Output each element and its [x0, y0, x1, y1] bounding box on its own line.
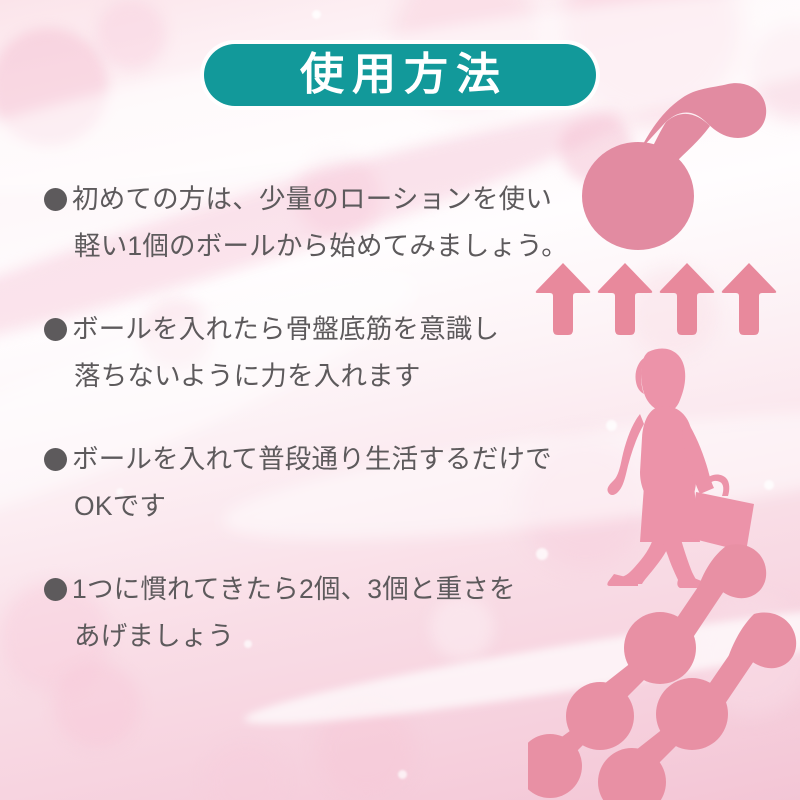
- poster-canvas: 使用方法 初めての方は、少量のローションを使い 軽い1個のボールから始めてみまし…: [0, 0, 800, 800]
- up-arrow-icon: [722, 263, 777, 335]
- bokeh-circle: [96, 0, 166, 70]
- bullet-line: OKです: [44, 483, 564, 530]
- up-arrow-icon: [660, 263, 715, 335]
- bokeh-circle: [560, 112, 632, 184]
- bullet-line: ボールを入れて普段通り生活するだけで: [44, 436, 564, 483]
- list-item: ボールを入れたら骨盤底筋を意識し 落ちないように力を入れます: [44, 306, 564, 400]
- bokeh-circle: [206, 742, 284, 800]
- bokeh-circle: [690, 596, 800, 716]
- sparkle-dot: [764, 480, 774, 490]
- bullet-line: あげましょう: [44, 613, 564, 660]
- bullet-line: 初めての方は、少量のローションを使い: [44, 176, 564, 223]
- bokeh-circle: [748, 24, 800, 120]
- up-arrow-icon: [598, 263, 653, 335]
- kegel-ball-chain-icon: [598, 612, 796, 800]
- bullet-dot-icon: [44, 188, 67, 211]
- bullet-line: 軽い1個のボールから始めてみましょう。: [44, 223, 564, 270]
- page-title: 使用方法: [292, 53, 508, 97]
- instruction-list: 初めての方は、少量のローションを使い 軽い1個のボールから始めてみましょう。 ボ…: [44, 176, 564, 660]
- bullet-text: 初めての方は、少量のローションを使い: [72, 184, 552, 214]
- bullet-dot-icon: [44, 578, 67, 601]
- bullet-text: ボールを入れたら骨盤底筋を意識し: [72, 314, 499, 344]
- bokeh-circle: [0, 28, 108, 146]
- sparkle-dot: [398, 770, 407, 779]
- bullet-line: 1つに慣れてきたら2個、3個と重さを: [44, 566, 564, 613]
- title-pill: 使用方法: [204, 44, 596, 106]
- single-kegel-ball-icon: [578, 78, 800, 258]
- sparkle-dot: [312, 10, 321, 19]
- bullet-dot-icon: [44, 318, 67, 341]
- bullet-line: ボールを入れたら骨盤底筋を意識し: [44, 306, 564, 353]
- bullet-text: ボールを入れて普段通り生活するだけで: [72, 444, 552, 474]
- up-arrow-group: [534, 262, 782, 338]
- kegel-ball-chain-group: [528, 538, 800, 800]
- walking-woman-silhouette-icon: [596, 346, 772, 590]
- bullet-dot-icon: [44, 448, 67, 471]
- bokeh-circle: [628, 268, 718, 358]
- bullet-line: 落ちないように力を入れます: [44, 353, 564, 400]
- sparkle-dot: [606, 420, 617, 431]
- bokeh-circle: [54, 662, 140, 748]
- bullet-text: 1つに慣れてきたら2個、3個と重さを: [72, 574, 516, 604]
- list-item: 1つに慣れてきたら2個、3個と重さを あげましょう: [44, 566, 564, 660]
- sparkle-dot: [682, 690, 692, 700]
- list-item: 初めての方は、少量のローションを使い 軽い1個のボールから始めてみましょう。: [44, 176, 564, 270]
- list-item: ボールを入れて普段通り生活するだけで OKです: [44, 436, 564, 530]
- bokeh-circle: [318, 700, 414, 796]
